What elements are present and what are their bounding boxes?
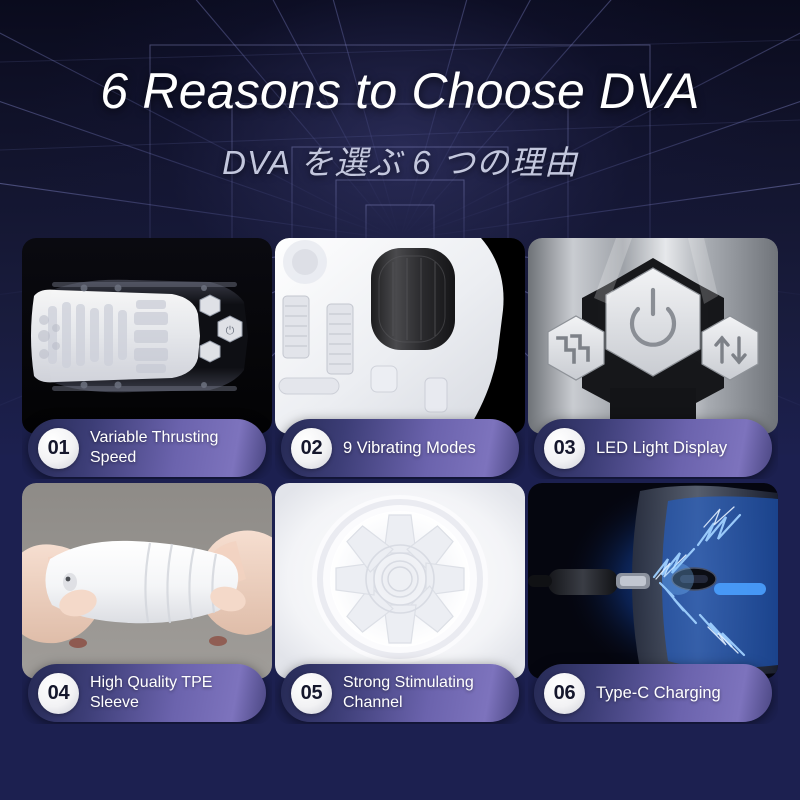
feature-number-badge-02: 02 (291, 428, 332, 469)
page-title: 6 Reasons to Choose DVA (0, 62, 800, 120)
feature-label-text-05: Strong Stimulating Channel (343, 673, 482, 713)
feature-label-03[interactable]: 03 LED Light Display (534, 419, 772, 477)
feature-label-01[interactable]: 01 Variable Thrusting Speed (28, 419, 266, 477)
feature-number-badge-05: 05 (291, 673, 332, 714)
feature-number-badge-06: 06 (544, 673, 585, 714)
feature-card-02[interactable]: 02 9 Vibrating Modes (275, 238, 525, 479)
feature-number-badge-04: 04 (38, 673, 79, 714)
feature-label-text-06: Type-C Charging (596, 683, 729, 703)
feature-card-06[interactable]: 06 Type-C Charging (528, 483, 778, 724)
feature-image-xray-cutaway-thrusting-mechanism: ⏻ (22, 238, 272, 434)
feature-label-text-01: Variable Thrusting Speed (90, 428, 226, 468)
feature-card-04[interactable]: 04 High Quality TPE Sleeve (22, 483, 272, 724)
feature-number-badge-03: 03 (544, 428, 585, 469)
feature-image-internal-vibration-motor-closeup (275, 238, 525, 434)
feature-image-hexagonal-control-buttons-panel (528, 238, 778, 434)
page-subtitle-japanese: DVA を選ぶ 6 つの理由 (0, 136, 800, 184)
feature-label-text-03: LED Light Display (596, 438, 735, 458)
feature-card-03[interactable]: 03 LED Light Display (528, 238, 778, 479)
feature-number-badge-01: 01 (38, 428, 79, 469)
feature-label-text-02: 9 Vibrating Modes (343, 438, 484, 458)
feature-label-04[interactable]: 04 High Quality TPE Sleeve (28, 664, 266, 722)
feature-card-05[interactable]: 05 Strong Stimulating Channel (275, 483, 525, 724)
svg-text:⏻: ⏻ (226, 325, 235, 337)
feature-label-05[interactable]: 05 Strong Stimulating Channel (281, 664, 519, 722)
feature-grid: ⏻ 01 Variable Thrusting Speed (22, 238, 778, 724)
feature-image-hands-squeezing-tpe-sleeve (22, 483, 272, 679)
feature-label-02[interactable]: 02 9 Vibrating Modes (281, 419, 519, 477)
header: 6 Reasons to Choose DVA DVA を選ぶ 6 つの理由 (0, 0, 800, 184)
feature-label-06[interactable]: 06 Type-C Charging (534, 664, 772, 722)
feature-card-01[interactable]: ⏻ 01 Variable Thrusting Speed (22, 238, 272, 479)
feature-label-text-04: High Quality TPE Sleeve (90, 673, 220, 713)
feature-image-radial-textured-channel-opening (275, 483, 525, 679)
feature-image-usb-c-cable-charging-with-lightning (528, 483, 778, 679)
